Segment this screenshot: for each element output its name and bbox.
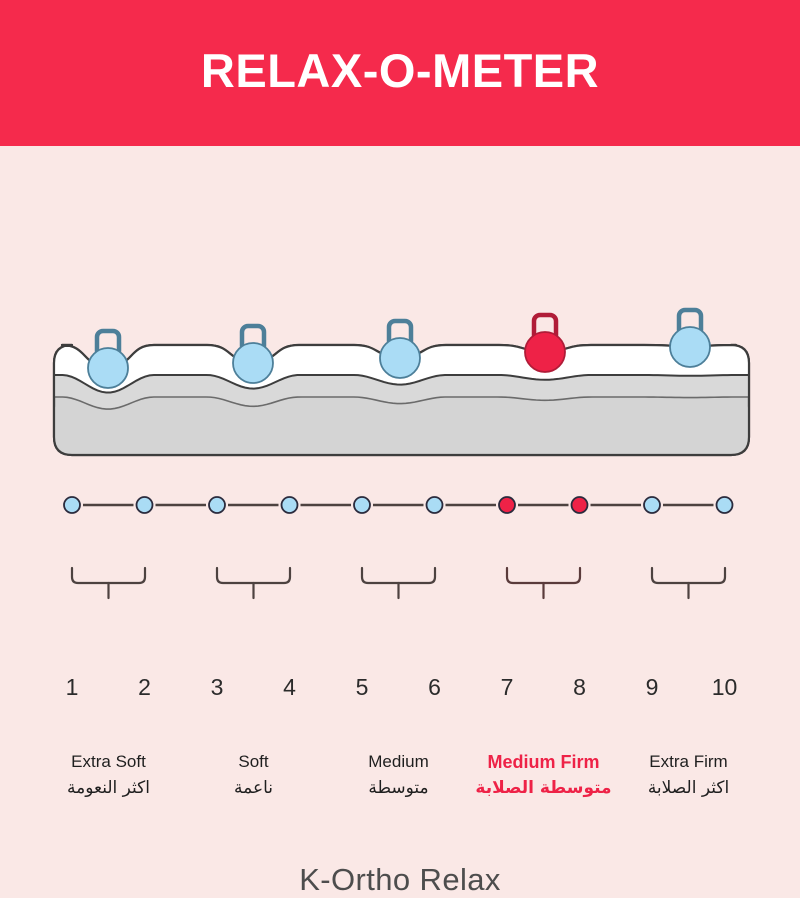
- scale-number-10: 10: [695, 674, 755, 701]
- weight-3-kettlebell: [380, 321, 420, 378]
- mattress-core-layer: [54, 397, 749, 455]
- weight-1-ball: [88, 348, 128, 388]
- scale-number-5: 5: [332, 674, 392, 701]
- weight-4-kettlebell: [525, 315, 565, 372]
- scale-number-6: 6: [405, 674, 465, 701]
- scale-dot-7[interactable]: [499, 497, 515, 513]
- scale-number-8: 8: [550, 674, 610, 701]
- scale-dot-8[interactable]: [572, 497, 588, 513]
- scale-dot-3[interactable]: [209, 497, 225, 513]
- scale-dot-4[interactable]: [282, 497, 298, 513]
- scale-number-9: 9: [622, 674, 682, 701]
- weight-3-ball: [380, 338, 420, 378]
- category-brackets: [72, 568, 725, 598]
- bracket-extra-firm: [652, 568, 725, 583]
- header-banner: RELAX-O-METER: [0, 0, 800, 146]
- category-label-en-extra-firm: Extra Firm: [579, 752, 799, 772]
- bracket-medium: [362, 568, 435, 583]
- scale-number-2: 2: [115, 674, 175, 701]
- scale-dot-1[interactable]: [64, 497, 80, 513]
- scale-dot-5[interactable]: [354, 497, 370, 513]
- brand-name: K-Ortho Relax: [0, 862, 800, 898]
- firmness-scale: [64, 497, 733, 513]
- page-title: RELAX-O-METER: [201, 47, 599, 94]
- bracket-soft: [217, 568, 290, 583]
- scale-dot-6[interactable]: [427, 497, 443, 513]
- bracket-extra-soft: [72, 568, 145, 583]
- weight-2-ball: [233, 343, 273, 383]
- weight-4-ball: [525, 332, 565, 372]
- weight-2-kettlebell: [233, 326, 273, 383]
- scale-number-1: 1: [42, 674, 102, 701]
- weight-5-ball: [670, 327, 710, 367]
- scale-number-4: 4: [260, 674, 320, 701]
- scale-number-3: 3: [187, 674, 247, 701]
- scale-number-7: 7: [477, 674, 537, 701]
- category-label-ar-extra-firm: اكثر الصلابة: [579, 778, 799, 798]
- weight-5-kettlebell: [670, 310, 710, 367]
- scale-dot-10[interactable]: [717, 497, 733, 513]
- bracket-medium-firm: [507, 568, 580, 583]
- relax-o-meter-diagram: 12345678910 Extra Softاكثر النعومةSoftنا…: [0, 146, 800, 800]
- scale-dot-9[interactable]: [644, 497, 660, 513]
- scale-dot-2[interactable]: [137, 497, 153, 513]
- mattress-scale-illustration: [0, 146, 800, 800]
- weight-1-kettlebell: [88, 331, 128, 388]
